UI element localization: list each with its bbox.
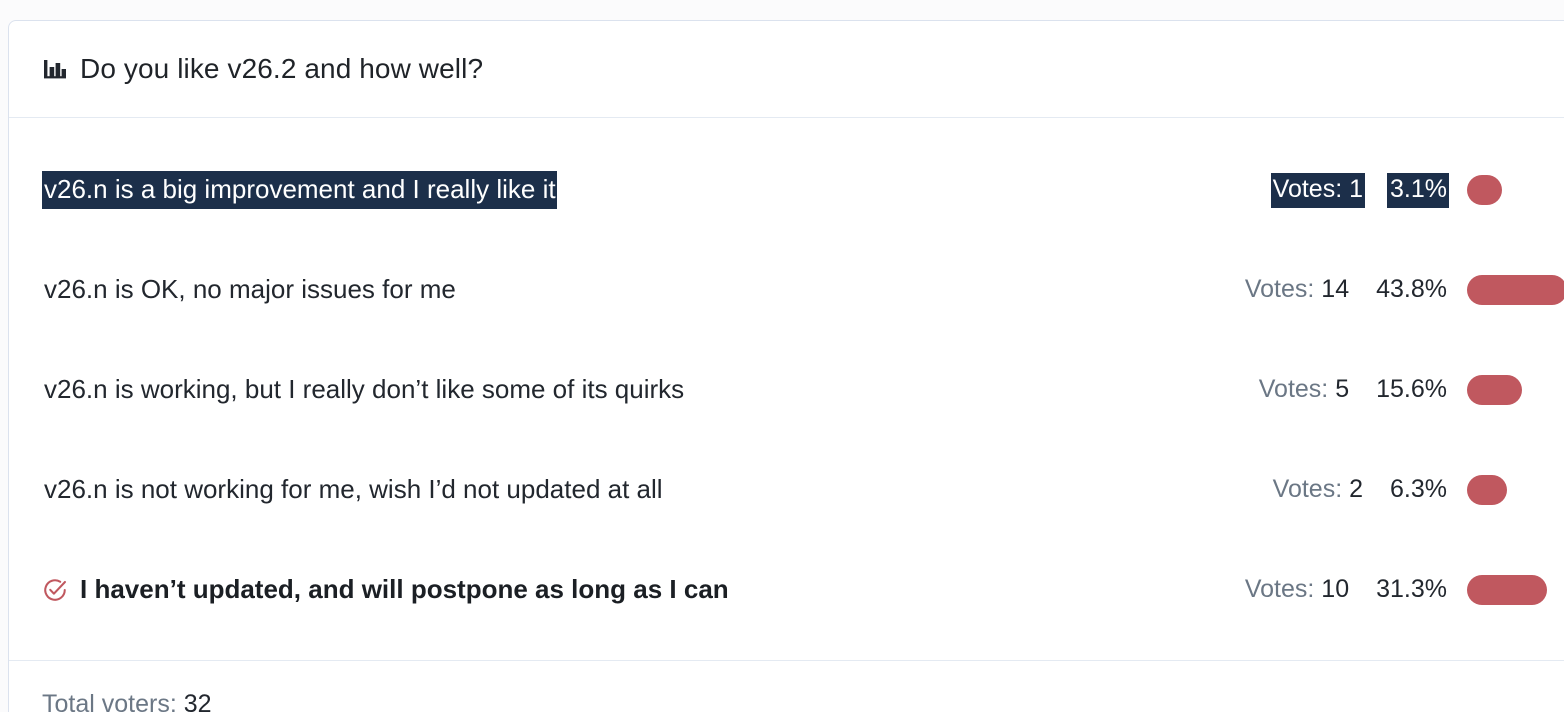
result-bar-track <box>1467 575 1564 605</box>
votes-count: Votes: 10 <box>1243 573 1351 608</box>
page-title: Do you like v26.2 and how well? <box>80 53 483 85</box>
poll-screen: Do you like v26.2 and how well? v26.n is… <box>0 0 1564 712</box>
result-bar-track <box>1467 375 1564 405</box>
poll-option-label[interactable]: v26.n is OK, no major issues for me <box>42 271 457 310</box>
total-voters: Total voters: 32 <box>42 690 212 712</box>
votes-label: Votes: <box>1245 275 1315 303</box>
percent-value: 43.8% <box>1373 273 1449 308</box>
circle-check-icon <box>42 577 68 603</box>
votes-label: Votes: <box>1259 375 1329 403</box>
poll-option-stats: Votes: 1 3.1% <box>1271 173 1564 208</box>
poll-option-row[interactable]: I haven’t updated, and will postpone as … <box>9 540 1564 640</box>
poll-option-label[interactable]: v26.n is not working for me, wish I’d no… <box>42 471 664 510</box>
poll-option-stats: Votes: 14 43.8% <box>1243 273 1564 308</box>
poll-option-label[interactable]: v26.n is working, but I really don’t lik… <box>42 371 685 410</box>
votes-label: Votes: <box>1273 175 1343 203</box>
votes-count: Votes: 2 <box>1271 473 1365 508</box>
votes-number: 10 <box>1321 575 1349 603</box>
poll-option-label-wrap[interactable]: v26.n is working, but I really don’t lik… <box>42 371 1257 410</box>
votes-count: Votes: 1 <box>1271 173 1365 208</box>
votes-count: Votes: 5 <box>1257 373 1351 408</box>
votes-number: 2 <box>1349 475 1363 503</box>
poll-option-stats: Votes: 2 6.3% <box>1271 473 1564 508</box>
poll-option-stats: Votes: 5 15.6% <box>1257 373 1564 408</box>
result-bar-fill <box>1467 375 1522 405</box>
percent-value: 15.6% <box>1373 373 1449 408</box>
votes-number: 14 <box>1321 275 1349 303</box>
poll-card: Do you like v26.2 and how well? v26.n is… <box>8 20 1564 712</box>
votes-count: Votes: 14 <box>1243 273 1351 308</box>
result-bar-track <box>1467 175 1564 205</box>
poll-option-label[interactable]: v26.n is a big improvement and I really … <box>42 171 557 210</box>
votes-number: 1 <box>1349 175 1363 203</box>
poll-option-row[interactable]: v26.n is OK, no major issues for me Vote… <box>9 240 1564 340</box>
result-bar-track <box>1467 275 1564 305</box>
percent-value: 31.3% <box>1373 573 1449 608</box>
poll-option-label-wrap[interactable]: v26.n is a big improvement and I really … <box>42 171 1271 210</box>
votes-label: Votes: <box>1245 575 1315 603</box>
poll-option-row[interactable]: v26.n is working, but I really don’t lik… <box>9 340 1564 440</box>
result-bar-fill <box>1467 575 1547 605</box>
votes-label: Votes: <box>1273 475 1343 503</box>
result-bar-fill <box>1467 175 1502 205</box>
percent-value: 3.1% <box>1387 173 1449 208</box>
poll-option-label-wrap[interactable]: I haven’t updated, and will postpone as … <box>42 571 1243 610</box>
result-bar-fill <box>1467 475 1507 505</box>
votes-number: 5 <box>1335 375 1349 403</box>
poll-option-label-wrap[interactable]: v26.n is OK, no major issues for me <box>42 271 1243 310</box>
percent-value: 6.3% <box>1387 473 1449 508</box>
poll-options-list: v26.n is a big improvement and I really … <box>9 118 1564 661</box>
total-voters-value: 32 <box>184 690 212 712</box>
poll-footer: Total voters: 32 <box>9 661 1564 712</box>
poll-option-label[interactable]: I haven’t updated, and will postpone as … <box>78 571 730 610</box>
poll-option-label-wrap[interactable]: v26.n is not working for me, wish I’d no… <box>42 471 1271 510</box>
poll-option-row[interactable]: v26.n is not working for me, wish I’d no… <box>9 440 1564 540</box>
poll-option-stats: Votes: 10 31.3% <box>1243 573 1564 608</box>
poll-option-row[interactable]: v26.n is a big improvement and I really … <box>9 140 1564 240</box>
bar-chart-icon <box>42 56 68 82</box>
result-bar-track <box>1467 475 1564 505</box>
total-voters-label: Total voters: <box>42 690 177 712</box>
poll-header: Do you like v26.2 and how well? <box>9 21 1564 118</box>
result-bar-fill <box>1467 275 1564 305</box>
